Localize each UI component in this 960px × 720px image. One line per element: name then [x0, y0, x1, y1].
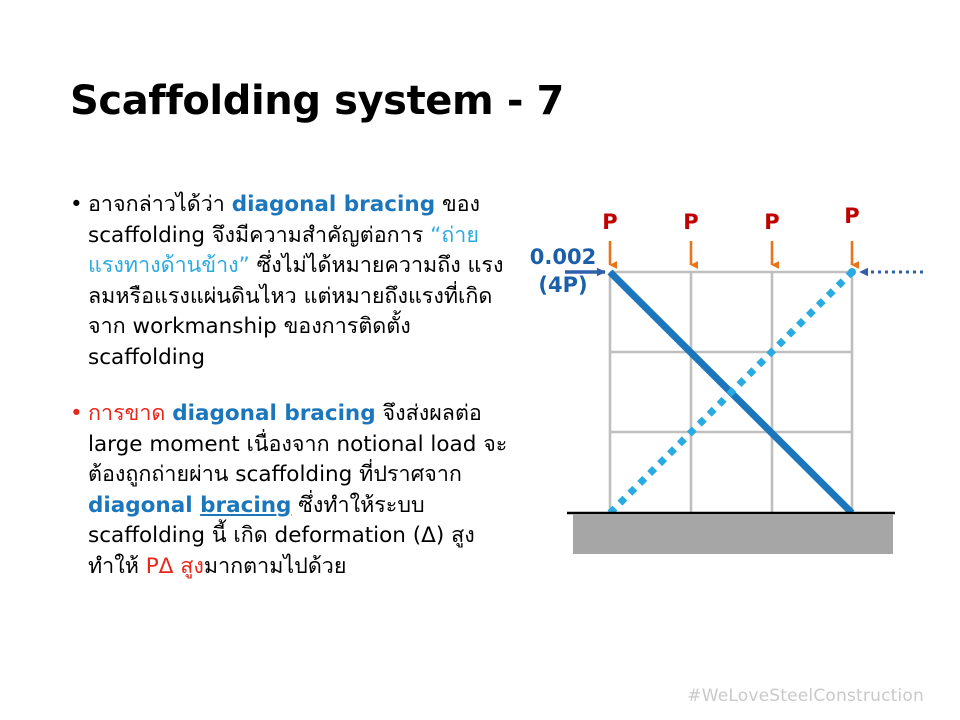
- bullet-paragraph-1: •อาจกล่าวได้ว่า diagonal bracing ของ sca…: [70, 190, 510, 373]
- bullet-2-run-7-p-delta: PΔ สูง: [146, 554, 204, 579]
- bullet-marker: •: [70, 399, 83, 430]
- point-load-label-2: P: [683, 210, 698, 234]
- bullet-2-run-4-diagonal: diagonal: [88, 493, 200, 518]
- point-load-label-1: P: [602, 210, 617, 234]
- lateral-load-value: 0.002: [530, 245, 596, 269]
- bullet-1-run-2-diagonal-bracing: diagonal bracing: [232, 192, 435, 217]
- bullet-2-run-5-bracing-underlined: bracing: [200, 493, 291, 518]
- point-load-label-4: P: [844, 204, 859, 228]
- page-title: Scaffolding system - 7: [70, 78, 564, 124]
- point-load-label-3: P: [764, 210, 779, 234]
- scaffolding-frame-diagram: P P P P 0.002 (4P): [505, 185, 955, 585]
- bullet-2-run-1-lack-of: การขาด: [88, 401, 172, 426]
- footer-hashtag: #WeLoveSteelConstruction: [687, 686, 924, 706]
- top-right-node-marker: [848, 268, 856, 276]
- bullet-paragraph-2: •การขาด diagonal bracing จึงส่งผลต่อ lar…: [70, 399, 510, 582]
- lateral-load-multiplier: (4P): [538, 273, 587, 297]
- bullet-marker: •: [70, 190, 83, 221]
- body-text-column: •อาจกล่าวได้ว่า diagonal bracing ของ sca…: [70, 190, 510, 608]
- bullet-2-run-8: มากตามไปด้วย: [204, 554, 347, 579]
- bullet-2-run-2-diagonal-bracing: diagonal bracing: [172, 401, 375, 426]
- foundation-block: [573, 514, 893, 554]
- bullet-1-run-1: อาจกล่าวได้ว่า: [88, 192, 232, 217]
